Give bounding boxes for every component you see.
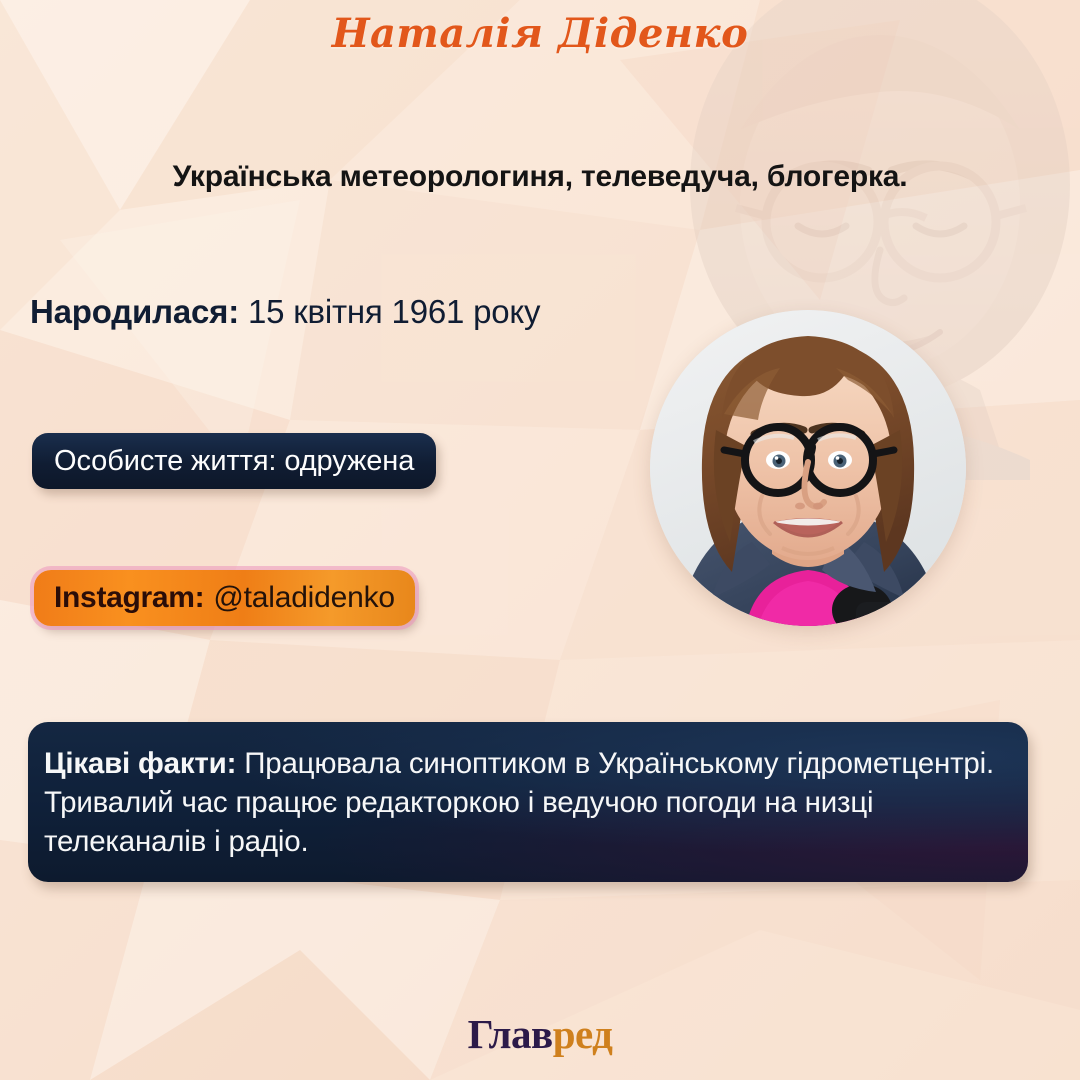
- portrait-photo: [650, 310, 966, 626]
- brand-logo-part2: ред: [553, 1011, 613, 1057]
- birth-label: Народилася:: [30, 293, 239, 330]
- title-block: Наталія Діденко: [0, 14, 1080, 54]
- brand-logo[interactable]: Главред: [0, 1010, 1080, 1058]
- brand-logo-part1: Глав: [468, 1011, 553, 1057]
- portrait-illustration: [650, 310, 966, 626]
- page-subtitle: Українська метеорологиня, телеведуча, бл…: [0, 160, 1080, 194]
- facts-paragraph: Цікаві факти: Працювала синоптиком в Укр…: [44, 744, 1000, 862]
- instagram-handle: @taladidenko: [213, 581, 395, 615]
- birth-value: 15 квітня 1961 року: [248, 293, 540, 330]
- personal-life-badge[interactable]: Особисте життя: одружена: [32, 433, 436, 489]
- instagram-label: Instagram:: [54, 581, 204, 615]
- facts-label: Цікаві факти:: [44, 747, 236, 780]
- birth-line: Народилася: 15 квітня 1961 року: [30, 293, 540, 331]
- interesting-facts-panel: Цікаві факти: Працювала синоптиком в Укр…: [28, 722, 1028, 882]
- page-title: Наталія Діденко: [0, 14, 1080, 54]
- instagram-badge[interactable]: Instagram: @taladidenko: [34, 570, 415, 626]
- personal-life-label: Особисте життя: одружена: [54, 445, 414, 478]
- infographic-card: Наталія Діденко Українська метеорологиня…: [0, 0, 1080, 1080]
